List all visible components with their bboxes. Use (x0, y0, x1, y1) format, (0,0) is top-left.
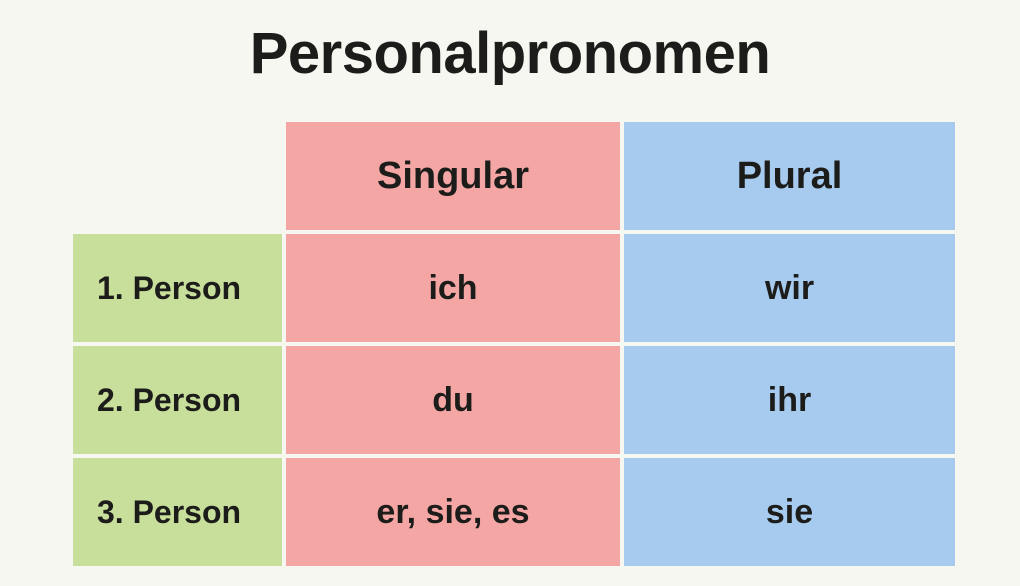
cell-1-person-plural: wir (624, 234, 955, 342)
table-corner-cell (73, 122, 282, 230)
personal-pronouns-table: Singular Plural 1. Person ich wir 2. Per… (73, 122, 947, 554)
column-header-plural: Plural (624, 122, 955, 230)
row-label-1-person: 1. Person (73, 234, 282, 342)
cell-3-person-plural: sie (624, 458, 955, 566)
cell-3-person-singular: er, sie, es (286, 458, 620, 566)
column-header-singular: Singular (286, 122, 620, 230)
row-label-2-person: 2. Person (73, 346, 282, 454)
cell-1-person-singular: ich (286, 234, 620, 342)
row-label-3-person: 3. Person (73, 458, 282, 566)
cell-2-person-plural: ihr (624, 346, 955, 454)
cell-2-person-singular: du (286, 346, 620, 454)
page-title: Personalpronomen (0, 22, 1020, 86)
